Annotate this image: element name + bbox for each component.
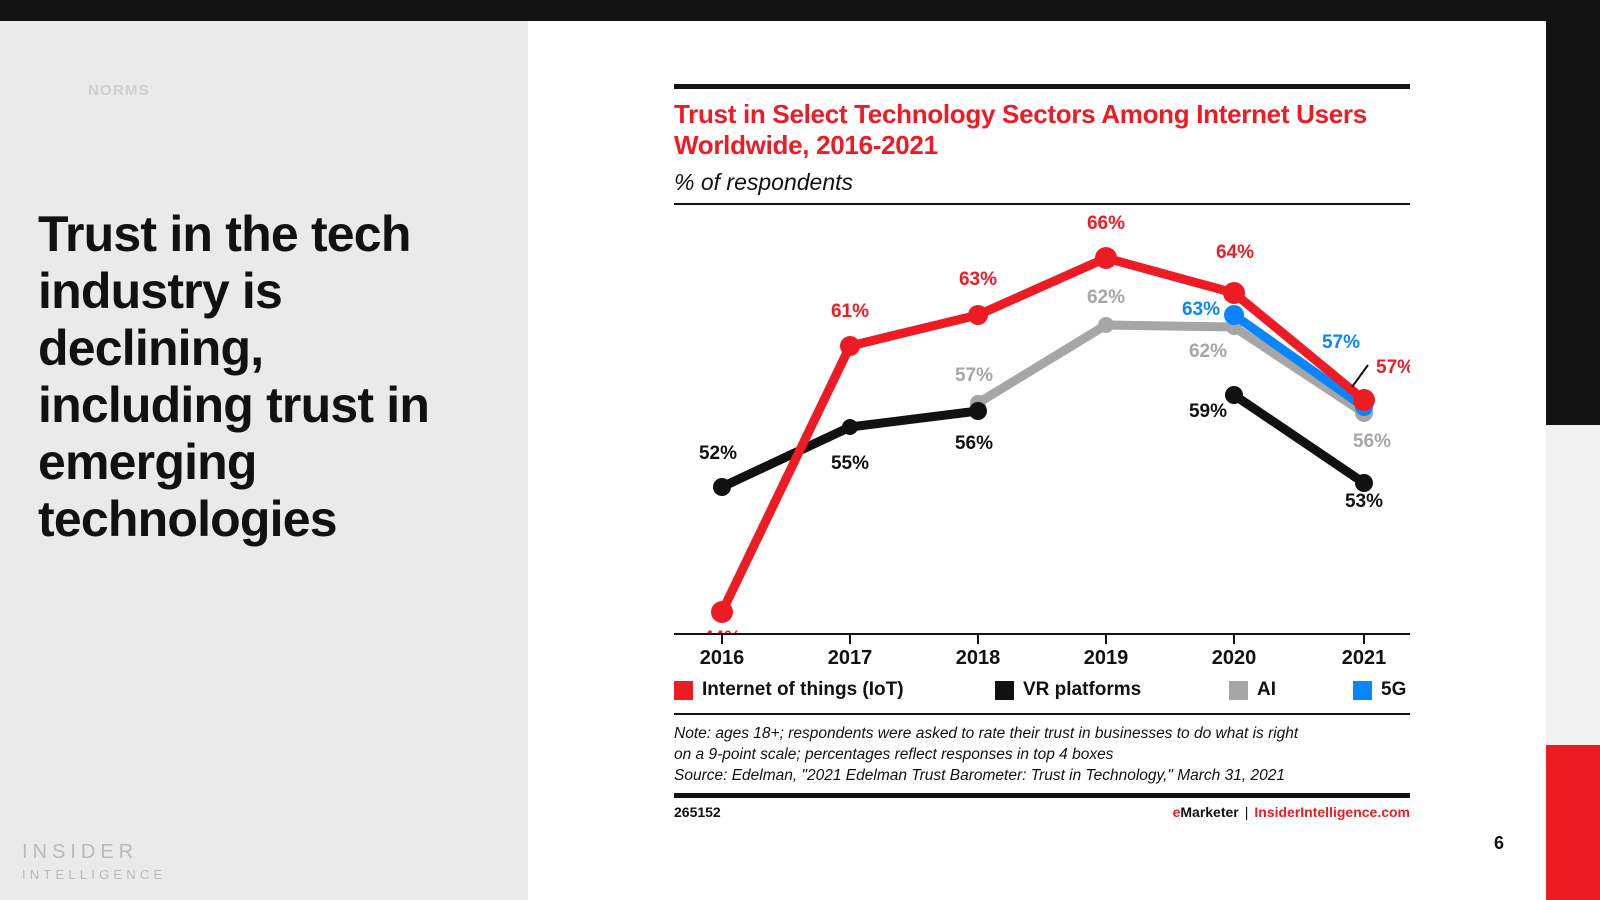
data-label-vr-2020: 59% — [1189, 401, 1227, 422]
series-point-vr — [1355, 474, 1373, 492]
data-label-iot-2016: 44% — [703, 628, 741, 633]
source-line: Source: Edelman, "2021 Edelman Trust Bar… — [674, 766, 1410, 787]
series-line-5g — [1234, 315, 1364, 407]
chart-legend: Internet of things (IoT) VR platforms AI… — [674, 679, 1410, 713]
right-edge-dark-strip — [1546, 21, 1600, 425]
logo-line-intelligence: INTELLIGENCE — [22, 867, 242, 882]
legend-item-ai[interactable]: AI — [1229, 679, 1276, 701]
series-line-iot — [722, 258, 1364, 612]
right-edge-red-strip — [1546, 745, 1600, 900]
legend-label-iot: Internet of things (IoT) — [702, 679, 904, 701]
x-axis-label-2021: 2021 — [1342, 647, 1387, 670]
data-label-5g-2020: 63% — [1182, 299, 1220, 320]
x-axis-label-2018: 2018 — [956, 647, 1001, 670]
legend-label-5g: 5G — [1381, 679, 1406, 701]
note-line-1: Note: ages 18+; respondents were asked t… — [674, 724, 1410, 745]
data-label-5g-2021: 57% — [1322, 332, 1360, 353]
notes-top-rule — [674, 713, 1410, 715]
top-accent-bar — [0, 0, 1600, 21]
x-axis-label-2017: 2017 — [828, 647, 873, 670]
note-line-2: on a 9-point scale; percentages reflect … — [674, 745, 1410, 766]
page-number: 6 — [1494, 833, 1504, 854]
line-chart-svg: 44% 61% 63% 66% 64% 57% 52% 55% 56% 59% … — [674, 205, 1410, 633]
data-label-vr-2017: 55% — [831, 453, 869, 474]
series-point-iot — [711, 601, 733, 623]
slide-headline: Trust in the tech industry is declining,… — [38, 206, 488, 548]
attribution: eMarketer|InsiderIntelligence.com — [1173, 804, 1410, 820]
left-panel: NORMS Trust in the tech industry is decl… — [0, 21, 528, 900]
series-point-iot — [1223, 282, 1245, 304]
data-label-iot-2019: 66% — [1087, 213, 1125, 234]
x-axis-label-2019: 2019 — [1084, 647, 1129, 670]
data-label-iot-2021: 57% — [1376, 357, 1410, 378]
series-point-iot — [1353, 389, 1375, 411]
legend-item-iot[interactable]: Internet of things (IoT) — [674, 679, 904, 701]
section-eyebrow-label: NORMS — [88, 82, 150, 99]
data-label-ai-2020: 62% — [1189, 341, 1227, 362]
series-point-5g — [1224, 305, 1244, 325]
chart-plot-area: 44% 61% 63% 66% 64% 57% 52% 55% 56% 59% … — [674, 205, 1410, 633]
series-point-vr — [1225, 386, 1243, 404]
chart-card: Trust in Select Technology Sectors Among… — [674, 84, 1410, 829]
legend-label-vr: VR platforms — [1023, 679, 1141, 701]
insiderintelligence-url: InsiderIntelligence.com — [1254, 804, 1410, 820]
attribution-divider: | — [1245, 804, 1249, 820]
x-tick — [1363, 635, 1365, 644]
data-label-ai-2021: 56% — [1353, 431, 1391, 452]
x-tick — [849, 635, 851, 644]
data-label-iot-2017: 61% — [831, 301, 869, 322]
x-tick — [977, 635, 979, 644]
series-line-vr-b — [1234, 395, 1364, 483]
chart-bottom-rule — [674, 793, 1410, 798]
chart-title: Trust in Select Technology Sectors Among… — [674, 99, 1410, 161]
legend-item-5g[interactable]: 5G — [1353, 679, 1406, 701]
data-label-ai-2018: 57% — [955, 365, 993, 386]
series-point-ai — [1098, 317, 1114, 333]
legend-item-vr[interactable]: VR platforms — [995, 679, 1141, 701]
chart-id: 265152 — [674, 804, 721, 820]
data-label-iot-2020: 64% — [1216, 242, 1254, 263]
logo-line-insider: INSIDER — [22, 841, 242, 864]
legend-label-ai: AI — [1257, 679, 1276, 701]
series-point-iot — [840, 336, 860, 356]
x-axis-label-2016: 2016 — [700, 647, 745, 670]
insider-intelligence-logo: INSIDER INTELLIGENCE — [22, 841, 242, 882]
x-axis: 2016 2017 2018 2019 2020 2021 — [674, 635, 1410, 675]
data-label-vr-2016: 52% — [699, 443, 737, 464]
legend-swatch-iot-icon — [674, 681, 693, 700]
legend-swatch-ai-icon — [1229, 681, 1248, 700]
x-tick — [1105, 635, 1107, 644]
chart-notes: Note: ages 18+; respondents were asked t… — [674, 724, 1410, 786]
legend-swatch-vr-icon — [995, 681, 1014, 700]
x-axis-label-2020: 2020 — [1212, 647, 1257, 670]
data-label-ai-2019: 62% — [1087, 287, 1125, 308]
emarketer-brand: Marketer — [1180, 804, 1238, 820]
series-point-vr — [969, 402, 987, 420]
data-label-vr-2021: 53% — [1345, 491, 1383, 512]
chart-subtitle: % of respondents — [674, 169, 1410, 196]
legend-swatch-5g-icon — [1353, 681, 1372, 700]
series-point-vr — [842, 419, 858, 435]
x-tick — [1233, 635, 1235, 644]
right-edge-gray-strip — [1546, 425, 1600, 745]
data-label-iot-2018: 63% — [959, 269, 997, 290]
series-point-iot — [968, 305, 988, 325]
chart-footer: 265152 eMarketer|InsiderIntelligence.com — [674, 804, 1410, 820]
data-label-vr-2018: 56% — [955, 433, 993, 454]
series-point-iot — [1095, 247, 1117, 269]
series-point-vr — [713, 478, 731, 496]
chart-top-rule — [674, 84, 1410, 89]
leader-line-iot-2021 — [1352, 365, 1368, 387]
x-tick — [721, 635, 723, 644]
